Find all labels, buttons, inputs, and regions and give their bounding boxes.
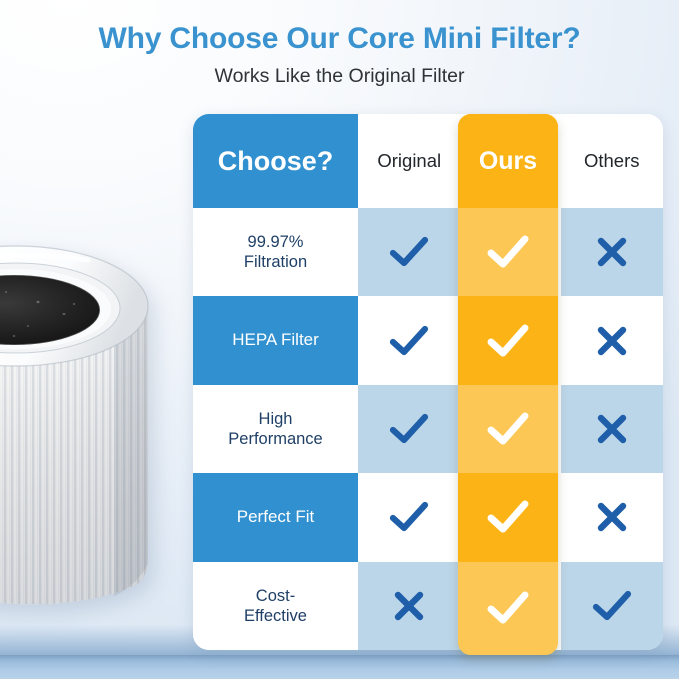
row-label-hepa-filter: HEPA Filter bbox=[193, 296, 358, 384]
product-photo-core-mini-filter bbox=[0, 186, 208, 656]
cell-ours-high-performance bbox=[458, 385, 558, 473]
row-label-line2: Filtration bbox=[244, 253, 307, 271]
row-label-line1: Perfect Fit bbox=[237, 507, 314, 528]
cell-ours-cost-effective bbox=[458, 562, 558, 655]
page-title: Why Choose Our Core Mini Filter? bbox=[0, 22, 679, 56]
row-label-line1: High bbox=[259, 410, 293, 428]
table-row: Cost- Effective bbox=[193, 562, 663, 650]
cell-original-high-performance bbox=[358, 385, 461, 473]
cross-icon bbox=[595, 235, 629, 269]
check-icon bbox=[486, 323, 530, 359]
cell-others-cost-effective bbox=[561, 562, 664, 650]
comparison-table: Choose? Original Others 99.97% Filtratio… bbox=[193, 114, 663, 650]
row-label-line1: 99.97% bbox=[248, 233, 304, 251]
check-icon bbox=[486, 499, 530, 535]
cross-icon bbox=[595, 412, 629, 446]
row-label-line2: Performance bbox=[228, 430, 322, 448]
check-icon bbox=[486, 590, 530, 626]
cell-original-filtration bbox=[358, 208, 461, 296]
cell-original-cost-effective bbox=[358, 562, 461, 650]
header-cell-ours: Ours bbox=[458, 114, 558, 208]
check-icon bbox=[486, 234, 530, 270]
header-cell-others: Others bbox=[561, 114, 664, 208]
background-bottom-band bbox=[0, 655, 679, 679]
row-label-perfect-fit: Perfect Fit bbox=[193, 473, 358, 561]
table-row: Perfect Fit bbox=[193, 473, 663, 561]
cell-original-perfect-fit bbox=[358, 473, 461, 561]
cell-ours-hepa-filter bbox=[458, 296, 558, 384]
table-row: HEPA Filter bbox=[193, 296, 663, 384]
cell-original-hepa-filter bbox=[358, 296, 461, 384]
header-cell-choose: Choose? bbox=[193, 114, 358, 208]
table-row: High Performance bbox=[193, 385, 663, 473]
cell-others-filtration bbox=[561, 208, 664, 296]
row-label-high-performance: High Performance bbox=[193, 385, 358, 473]
heading-block: Why Choose Our Core Mini Filter? Works L… bbox=[0, 22, 679, 88]
table-row: 99.97% Filtration bbox=[193, 208, 663, 296]
row-label-line1: HEPA Filter bbox=[232, 330, 319, 351]
row-label-line2: Effective bbox=[244, 607, 307, 625]
table-header-row: Choose? Original Others bbox=[193, 114, 663, 208]
check-icon bbox=[592, 589, 632, 623]
highlight-column-ours-content: Ours bbox=[458, 114, 558, 655]
check-icon bbox=[389, 235, 429, 269]
cell-ours-filtration bbox=[458, 208, 558, 296]
cross-icon bbox=[595, 324, 629, 358]
cell-others-high-performance bbox=[561, 385, 664, 473]
cell-others-perfect-fit bbox=[561, 473, 664, 561]
page-subtitle: Works Like the Original Filter bbox=[0, 65, 679, 88]
cross-icon bbox=[392, 589, 426, 623]
cross-icon bbox=[595, 500, 629, 534]
row-label-cost-effective: Cost- Effective bbox=[193, 562, 358, 650]
check-icon bbox=[486, 411, 530, 447]
row-label-filtration: 99.97% Filtration bbox=[193, 208, 358, 296]
check-icon bbox=[389, 500, 429, 534]
check-icon bbox=[389, 324, 429, 358]
header-cell-original: Original bbox=[358, 114, 461, 208]
cell-ours-perfect-fit bbox=[458, 473, 558, 561]
row-label-line1: Cost- bbox=[256, 587, 295, 605]
cell-others-hepa-filter bbox=[561, 296, 664, 384]
check-icon bbox=[389, 412, 429, 446]
